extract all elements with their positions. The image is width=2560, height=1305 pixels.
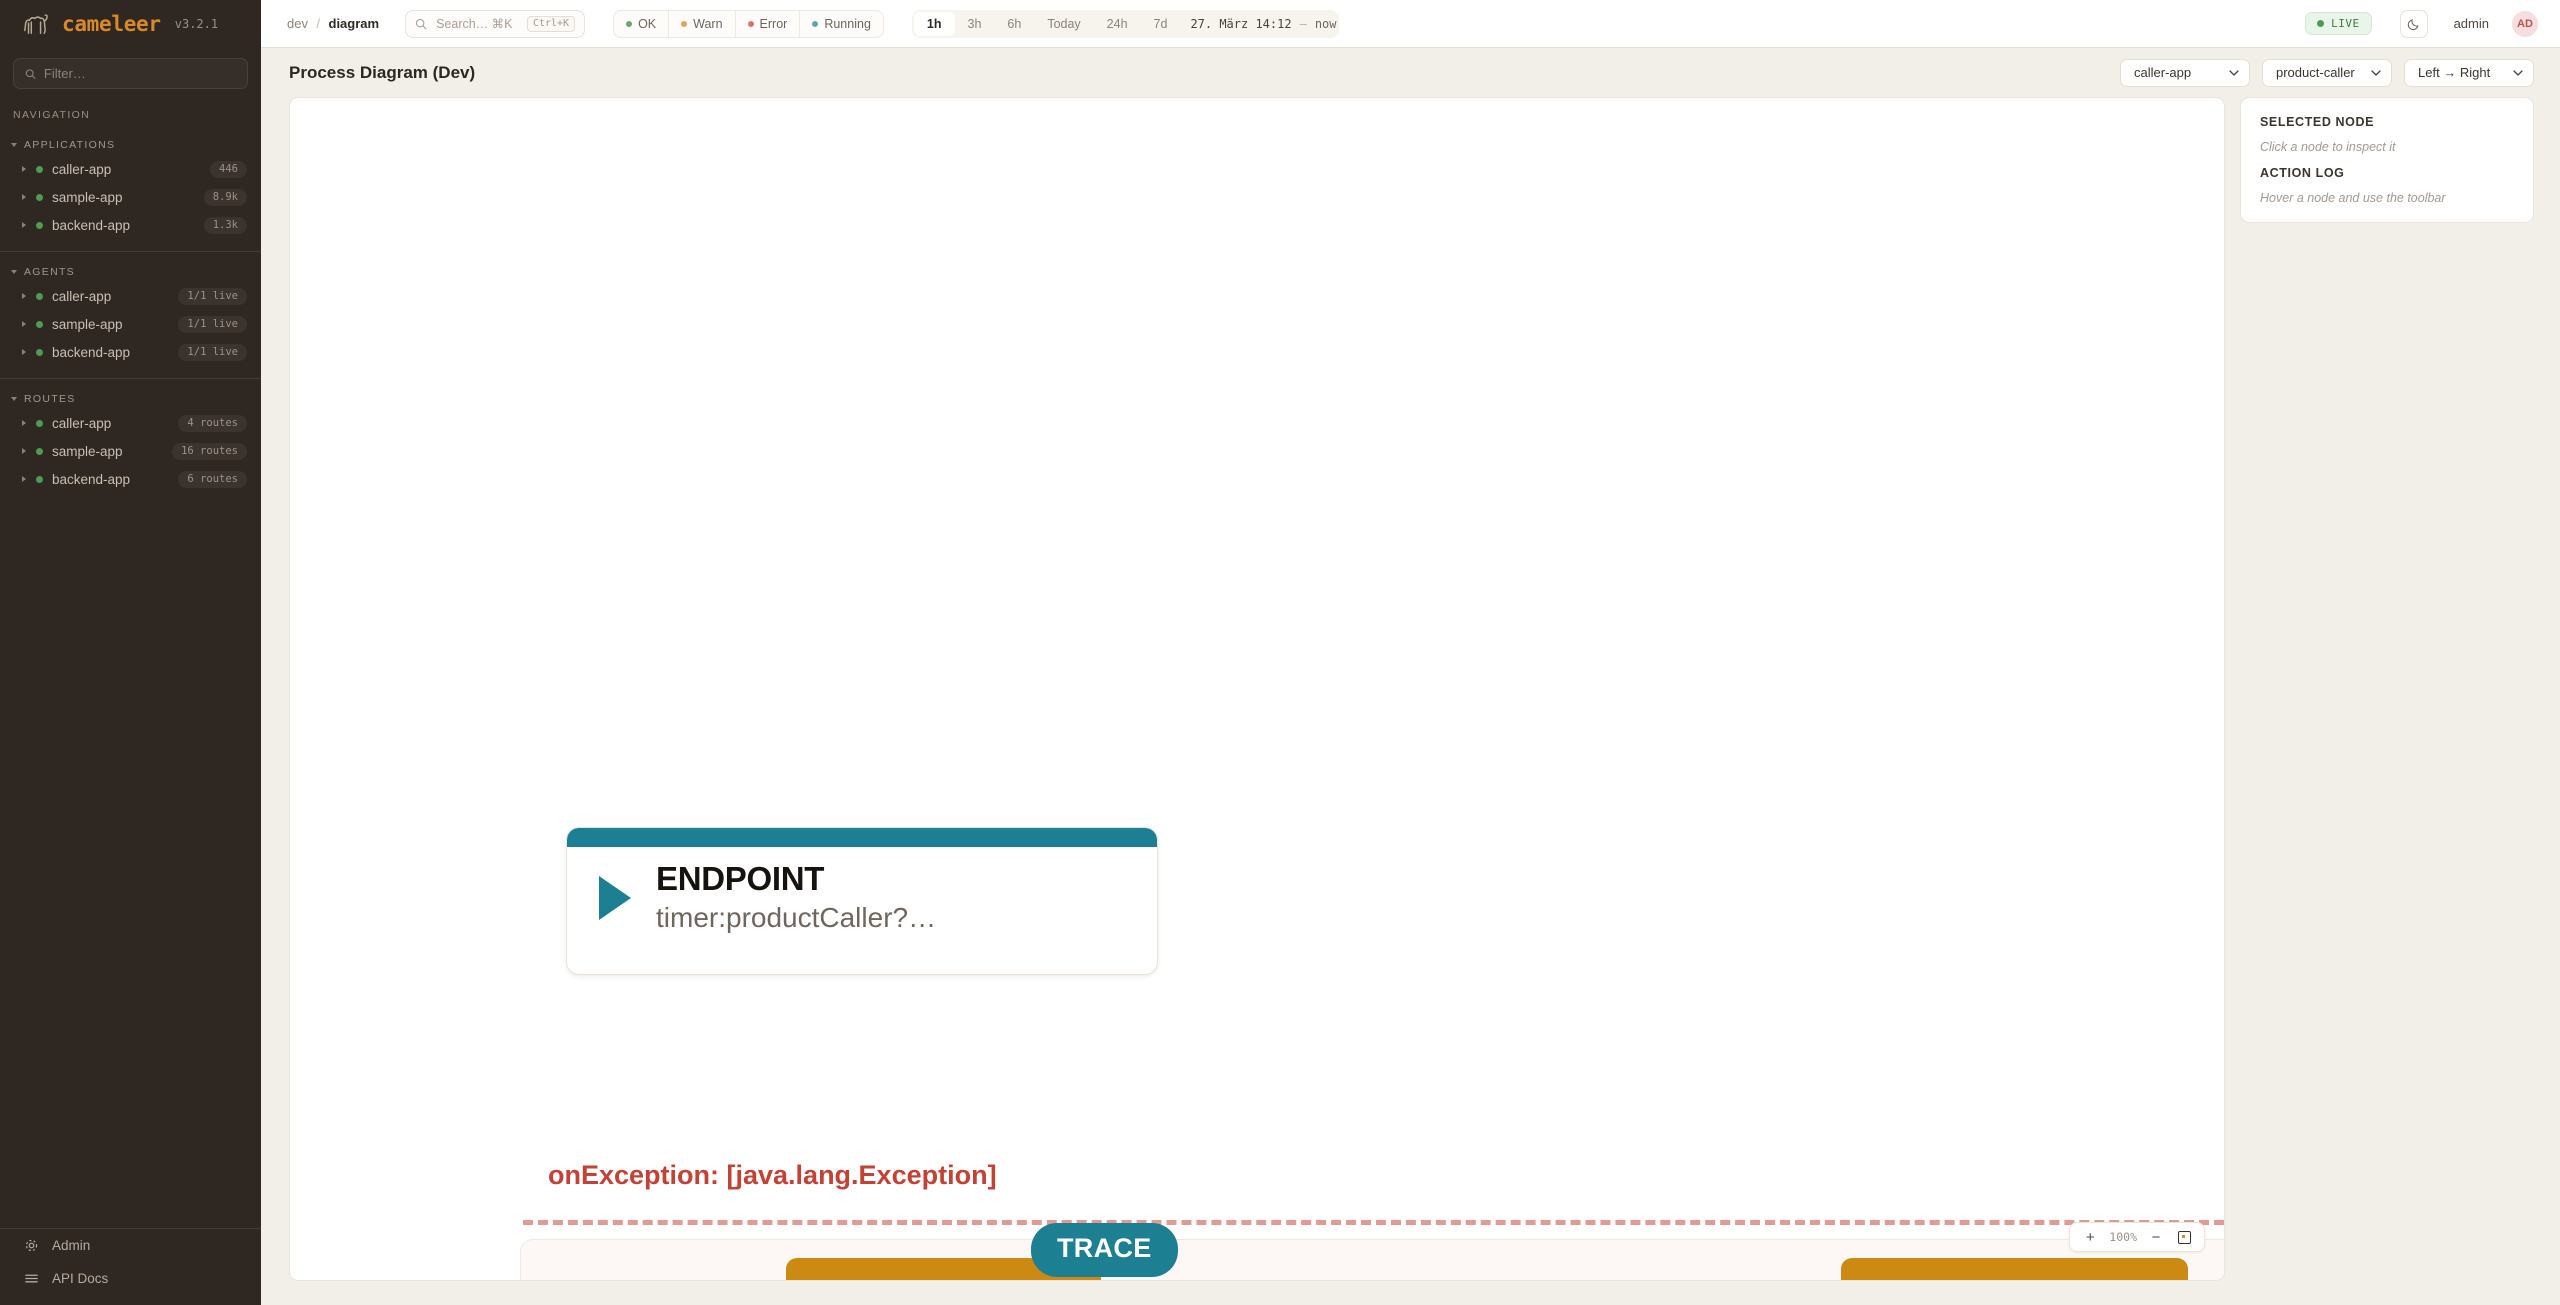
sidebar-item-badge: 8.9k [204,189,247,206]
live-status-badge[interactable]: LIVE [2305,12,2372,35]
selected-node-title: SELECTED NODE [2260,115,2514,129]
fit-screen-icon [2178,1231,2191,1244]
status-dot [36,420,43,427]
main-area: dev / diagram Search… ⌘K Ctrl+K OK [261,0,2560,1305]
sidebar-item-api-docs[interactable]: API Docs [0,1262,261,1295]
application-select-value: caller-app [2134,65,2191,80]
chevron-right-icon [22,194,26,200]
status-dot [681,21,687,27]
user-name[interactable]: admin [2454,16,2489,31]
breadcrumb-root[interactable]: dev [287,16,308,31]
time-range-group: 1h 3h 6h Today 24h 7d 27. März 14:12 — n… [912,10,1339,38]
chevron-right-icon [22,321,26,327]
chevron-down-icon [2513,70,2523,76]
time-range-6h[interactable]: 6h [994,12,1034,36]
theme-toggle-button[interactable] [2400,10,2428,38]
breadcrumb-separator: / [316,16,320,31]
node-texts: ENDPOINT timer:productCaller?… [656,861,936,935]
search-icon [415,18,427,30]
brand[interactable]: cameleer v3.2.1 [0,0,261,48]
date-range-from: 27. März 14:12 [1190,17,1291,31]
chevron-right-icon [22,476,26,482]
application-select[interactable]: caller-app [2120,59,2250,87]
moon-icon [2407,17,2421,31]
app-root: cameleer v3.2.1 NAVIGATION APPLICATIONS [0,0,2560,1305]
sidebar-footer: Admin API Docs [0,1216,261,1305]
sidebar-item-applications-caller-app[interactable]: caller-app 446 [0,155,261,183]
status-filter-group: OK Warn Error Running [613,10,884,38]
sidebar-item-label: sample-app [52,317,169,332]
status-filter-label: Error [760,17,788,31]
group-header-applications[interactable]: APPLICATIONS [0,135,261,155]
breadcrumb: dev / diagram [287,15,379,33]
sidebar-item-agents-backend-app[interactable]: backend-app 1/1 live [0,338,261,366]
chevron-right-icon [22,166,26,172]
sidebar-item-badge: 1/1 live [178,344,247,361]
sidebar-item-routes-sample-app[interactable]: sample-app 16 routes [0,437,261,465]
chevron-right-icon [22,293,26,299]
direction-select[interactable]: Left → Right [2404,59,2534,87]
gear-icon [24,1238,39,1253]
chevron-down-icon [2229,70,2239,76]
chevron-down-icon [2371,70,2381,76]
live-label: LIVE [2331,17,2360,30]
sidebar-item-applications-sample-app[interactable]: sample-app 8.9k [0,183,261,211]
sidebar-item-badge: 446 [210,161,247,178]
group-header-agents[interactable]: AGENTS [0,262,261,282]
chevron-right-icon [22,349,26,355]
route-select[interactable]: product-caller [2262,59,2392,87]
sidebar-item-badge: 1/1 live [178,288,247,305]
sidebar: cameleer v3.2.1 NAVIGATION APPLICATIONS [0,0,261,1305]
status-dot [36,448,43,455]
group-label: APPLICATIONS [24,139,115,151]
status-dot [36,222,43,229]
brand-name: cameleer [62,12,161,36]
sidebar-item-label: API Docs [52,1271,108,1286]
inspector-panel: SELECTED NODE Click a node to inspect it… [2240,97,2534,223]
sidebar-item-label: backend-app [52,218,195,233]
search-icon [25,68,36,80]
sidebar-item-label: sample-app [52,444,163,459]
node-header-bar [567,828,1157,847]
sidebar-item-label: backend-app [52,472,169,487]
time-range-7d[interactable]: 7d [1141,12,1181,36]
exception-label: onException: [java.lang.Exception] [548,1160,997,1191]
selected-node-hint: Click a node to inspect it [2260,140,2514,154]
list-icon [24,1271,39,1286]
time-range-3h[interactable]: 3h [955,12,995,36]
action-log-hint: Hover a node and use the toolbar [2260,191,2514,205]
diagram-canvas[interactable]: ENDPOINT timer:productCaller?… onExcepti… [289,97,2225,1281]
trace-badge[interactable]: TRACE [1031,1223,1178,1277]
sidebar-item-badge: 6 routes [178,471,247,488]
avatar[interactable]: AD [2512,11,2538,37]
zoom-controls: + 100% − [2069,1222,2205,1252]
nav-group-routes: ROUTES caller-app 4 routes sample-app 16… [0,379,261,493]
direction-select-value: Left → Right [2418,65,2490,80]
sidebar-item-label: sample-app [52,190,195,205]
sidebar-item-badge: 1.3k [204,217,247,234]
sidebar-item-applications-backend-app[interactable]: backend-app 1.3k [0,211,261,239]
status-filter-warn[interactable]: Warn [669,11,735,37]
bottom-padding [261,1281,2560,1305]
chevron-right-icon [22,222,26,228]
search-placeholder: Search… ⌘K [436,16,518,31]
sidebar-item-routes-backend-app[interactable]: backend-app 6 routes [0,465,261,493]
chevron-down-icon [11,397,17,401]
status-dot [812,21,818,27]
filter-box[interactable] [13,58,248,89]
status-filter-label: OK [638,17,656,31]
sidebar-item-badge: 1/1 live [178,316,247,333]
fit-screen-button[interactable] [2170,1223,2198,1251]
sidebar-item-label: caller-app [52,162,201,177]
status-dot [36,166,43,173]
status-filter-ok[interactable]: OK [614,11,669,37]
exception-divider [523,1220,2224,1225]
diagram-node-endpoint[interactable]: ENDPOINT timer:productCaller?… [566,827,1158,975]
filter-wrap [0,48,261,89]
status-filter-running[interactable]: Running [800,11,883,37]
status-dot [36,476,43,483]
nav-group-agents: AGENTS caller-app 1/1 live sample-app 1/… [0,252,261,366]
search-shortcut-badge: Ctrl+K [527,16,575,32]
time-range-1h[interactable]: 1h [914,12,955,36]
group-label: ROUTES [24,393,76,405]
page-controls: caller-app product-caller Left → Right [2120,59,2534,87]
time-range-today[interactable]: Today [1034,12,1093,36]
brand-version: v3.2.1 [175,17,218,31]
chevron-right-icon [22,420,26,426]
status-dot [36,293,43,300]
navigation-label: NAVIGATION [0,89,261,125]
zoom-level: 100% [2104,1230,2142,1244]
chevron-right-icon [22,448,26,454]
time-range-24h[interactable]: 24h [1094,12,1141,36]
filter-input[interactable] [44,66,236,81]
route-select-value: product-caller [2276,65,2355,80]
group-label: AGENTS [24,266,75,278]
canvas-wrap: ENDPOINT timer:productCaller?… onExcepti… [261,97,2560,1281]
chevron-down-icon [11,143,17,147]
group-header-routes[interactable]: ROUTES [0,389,261,409]
nav-group-applications: APPLICATIONS caller-app 446 sample-app 8… [0,125,261,239]
camel-icon [20,11,50,37]
sidebar-item-label: backend-app [52,345,169,360]
page-title: Process Diagram (Dev) [289,63,475,83]
topbar: dev / diagram Search… ⌘K Ctrl+K OK [261,0,2560,48]
status-filter-label: Warn [693,17,722,31]
status-filter-label: Running [824,17,871,31]
status-dot [36,321,43,328]
sidebar-item-label: Admin [52,1238,90,1253]
status-dot [626,21,632,27]
date-range-display[interactable]: 27. März 14:12 — now [1180,17,1336,31]
node-type-label: ENDPOINT [656,861,936,897]
breadcrumb-current: diagram [329,16,380,31]
zoom-in-button[interactable]: + [2076,1223,2104,1251]
zoom-out-button[interactable]: − [2142,1223,2170,1251]
sidebar-item-badge: 4 routes [178,415,247,432]
sidebar-item-badge: 16 routes [172,443,247,460]
node-uri-label: timer:productCaller?… [656,900,936,935]
live-dot-icon [2317,20,2324,27]
sidebar-item-routes-caller-app[interactable]: caller-app 4 routes [0,409,261,437]
page-header: Process Diagram (Dev) caller-app product… [261,48,2560,97]
chevron-down-icon [11,270,17,274]
sidebar-item-agents-sample-app[interactable]: sample-app 1/1 live [0,310,261,338]
sidebar-item-admin[interactable]: Admin [0,1229,261,1262]
sidebar-item-label: caller-app [52,416,169,431]
sidebar-item-label: caller-app [52,289,169,304]
play-icon [599,876,631,920]
node-body: ENDPOINT timer:productCaller?… [567,847,1157,935]
status-dot [36,349,43,356]
sidebar-item-agents-caller-app[interactable]: caller-app 1/1 live [0,282,261,310]
status-filter-error[interactable]: Error [736,11,801,37]
search-box[interactable]: Search… ⌘K Ctrl+K [405,10,585,38]
status-dot [36,194,43,201]
route-bar-right [1841,1258,2188,1280]
status-dot [748,21,754,27]
date-range-to: now [1315,17,1337,31]
date-range-dash: — [1300,17,1307,31]
action-log-title: ACTION LOG [2260,166,2514,180]
